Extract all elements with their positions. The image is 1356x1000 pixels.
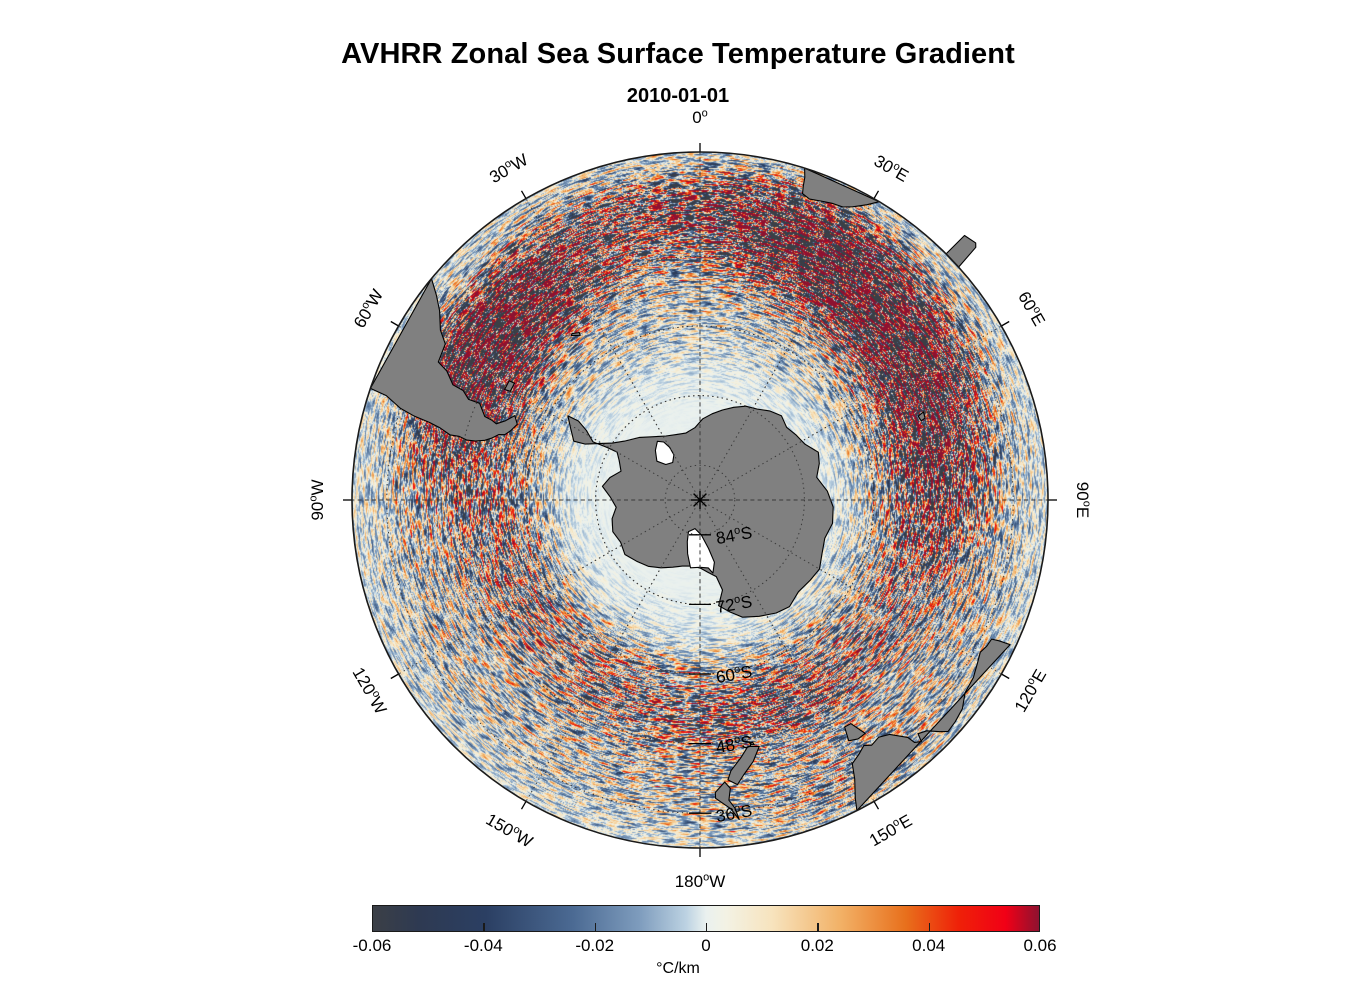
- colorbar-tick--0.04: [483, 923, 484, 932]
- colorbar-unit-label: °C/km: [0, 960, 1356, 978]
- lon-tick-120W: [391, 674, 399, 679]
- map-overlay: [352, 152, 1048, 848]
- colorbar-tick-0.04: [929, 923, 930, 932]
- land-falkland-islands: [505, 381, 515, 392]
- figure-canvas: AVHRR Zonal Sea Surface Temperature Grad…: [0, 0, 1356, 1000]
- land-antarctica: [568, 406, 833, 617]
- lon-tick-150W: [522, 801, 527, 809]
- land-tasmania: [845, 724, 866, 741]
- polar-map[interactable]: [352, 152, 1048, 848]
- land-layer: [370, 168, 1010, 819]
- colorbar-tick-labels: -0.06-0.04-0.0200.020.040.06: [372, 936, 1040, 958]
- lon-tick-120E: [1001, 674, 1009, 679]
- lon-label-180W: 180oW: [675, 872, 726, 892]
- lon-tick-60W: [391, 322, 399, 327]
- colorbar-label-0.06: 0.06: [1023, 936, 1056, 956]
- colorbar[interactable]: [372, 905, 1040, 932]
- land-kerguelen: [918, 412, 925, 421]
- colorbar-tick--0.02: [595, 923, 596, 932]
- colorbar-label--0.02: -0.02: [575, 936, 614, 956]
- lon-label-90E: 90oE: [1072, 482, 1092, 518]
- colorbar-label--0.04: -0.04: [464, 936, 503, 956]
- colorbar-tick-0.02: [817, 923, 818, 932]
- lon-label-90W: 90oW: [308, 479, 328, 520]
- colorbar-label-0.04: 0.04: [912, 936, 945, 956]
- lon-tick-60E: [1001, 322, 1009, 327]
- lon-label-0deg: 0o: [692, 108, 708, 128]
- pole-marker: [691, 491, 709, 509]
- lon-tick-30E: [874, 191, 879, 199]
- land-south-america: [370, 279, 517, 442]
- land-south-georgia: [571, 333, 580, 336]
- land-africa: [803, 168, 880, 207]
- lon-tick-150E: [874, 801, 879, 809]
- land-australia: [852, 639, 1010, 811]
- page-title: AVHRR Zonal Sea Surface Temperature Grad…: [0, 38, 1356, 71]
- colorbar-label--0.06: -0.06: [353, 936, 392, 956]
- colorbar-label-0: 0: [701, 936, 710, 956]
- colorbar-tick-0: [706, 923, 707, 932]
- land-madagascar: [946, 236, 976, 268]
- page-subtitle: 2010-01-01: [0, 85, 1356, 108]
- lon-tick-30W: [522, 191, 527, 199]
- colorbar-label-0.02: 0.02: [801, 936, 834, 956]
